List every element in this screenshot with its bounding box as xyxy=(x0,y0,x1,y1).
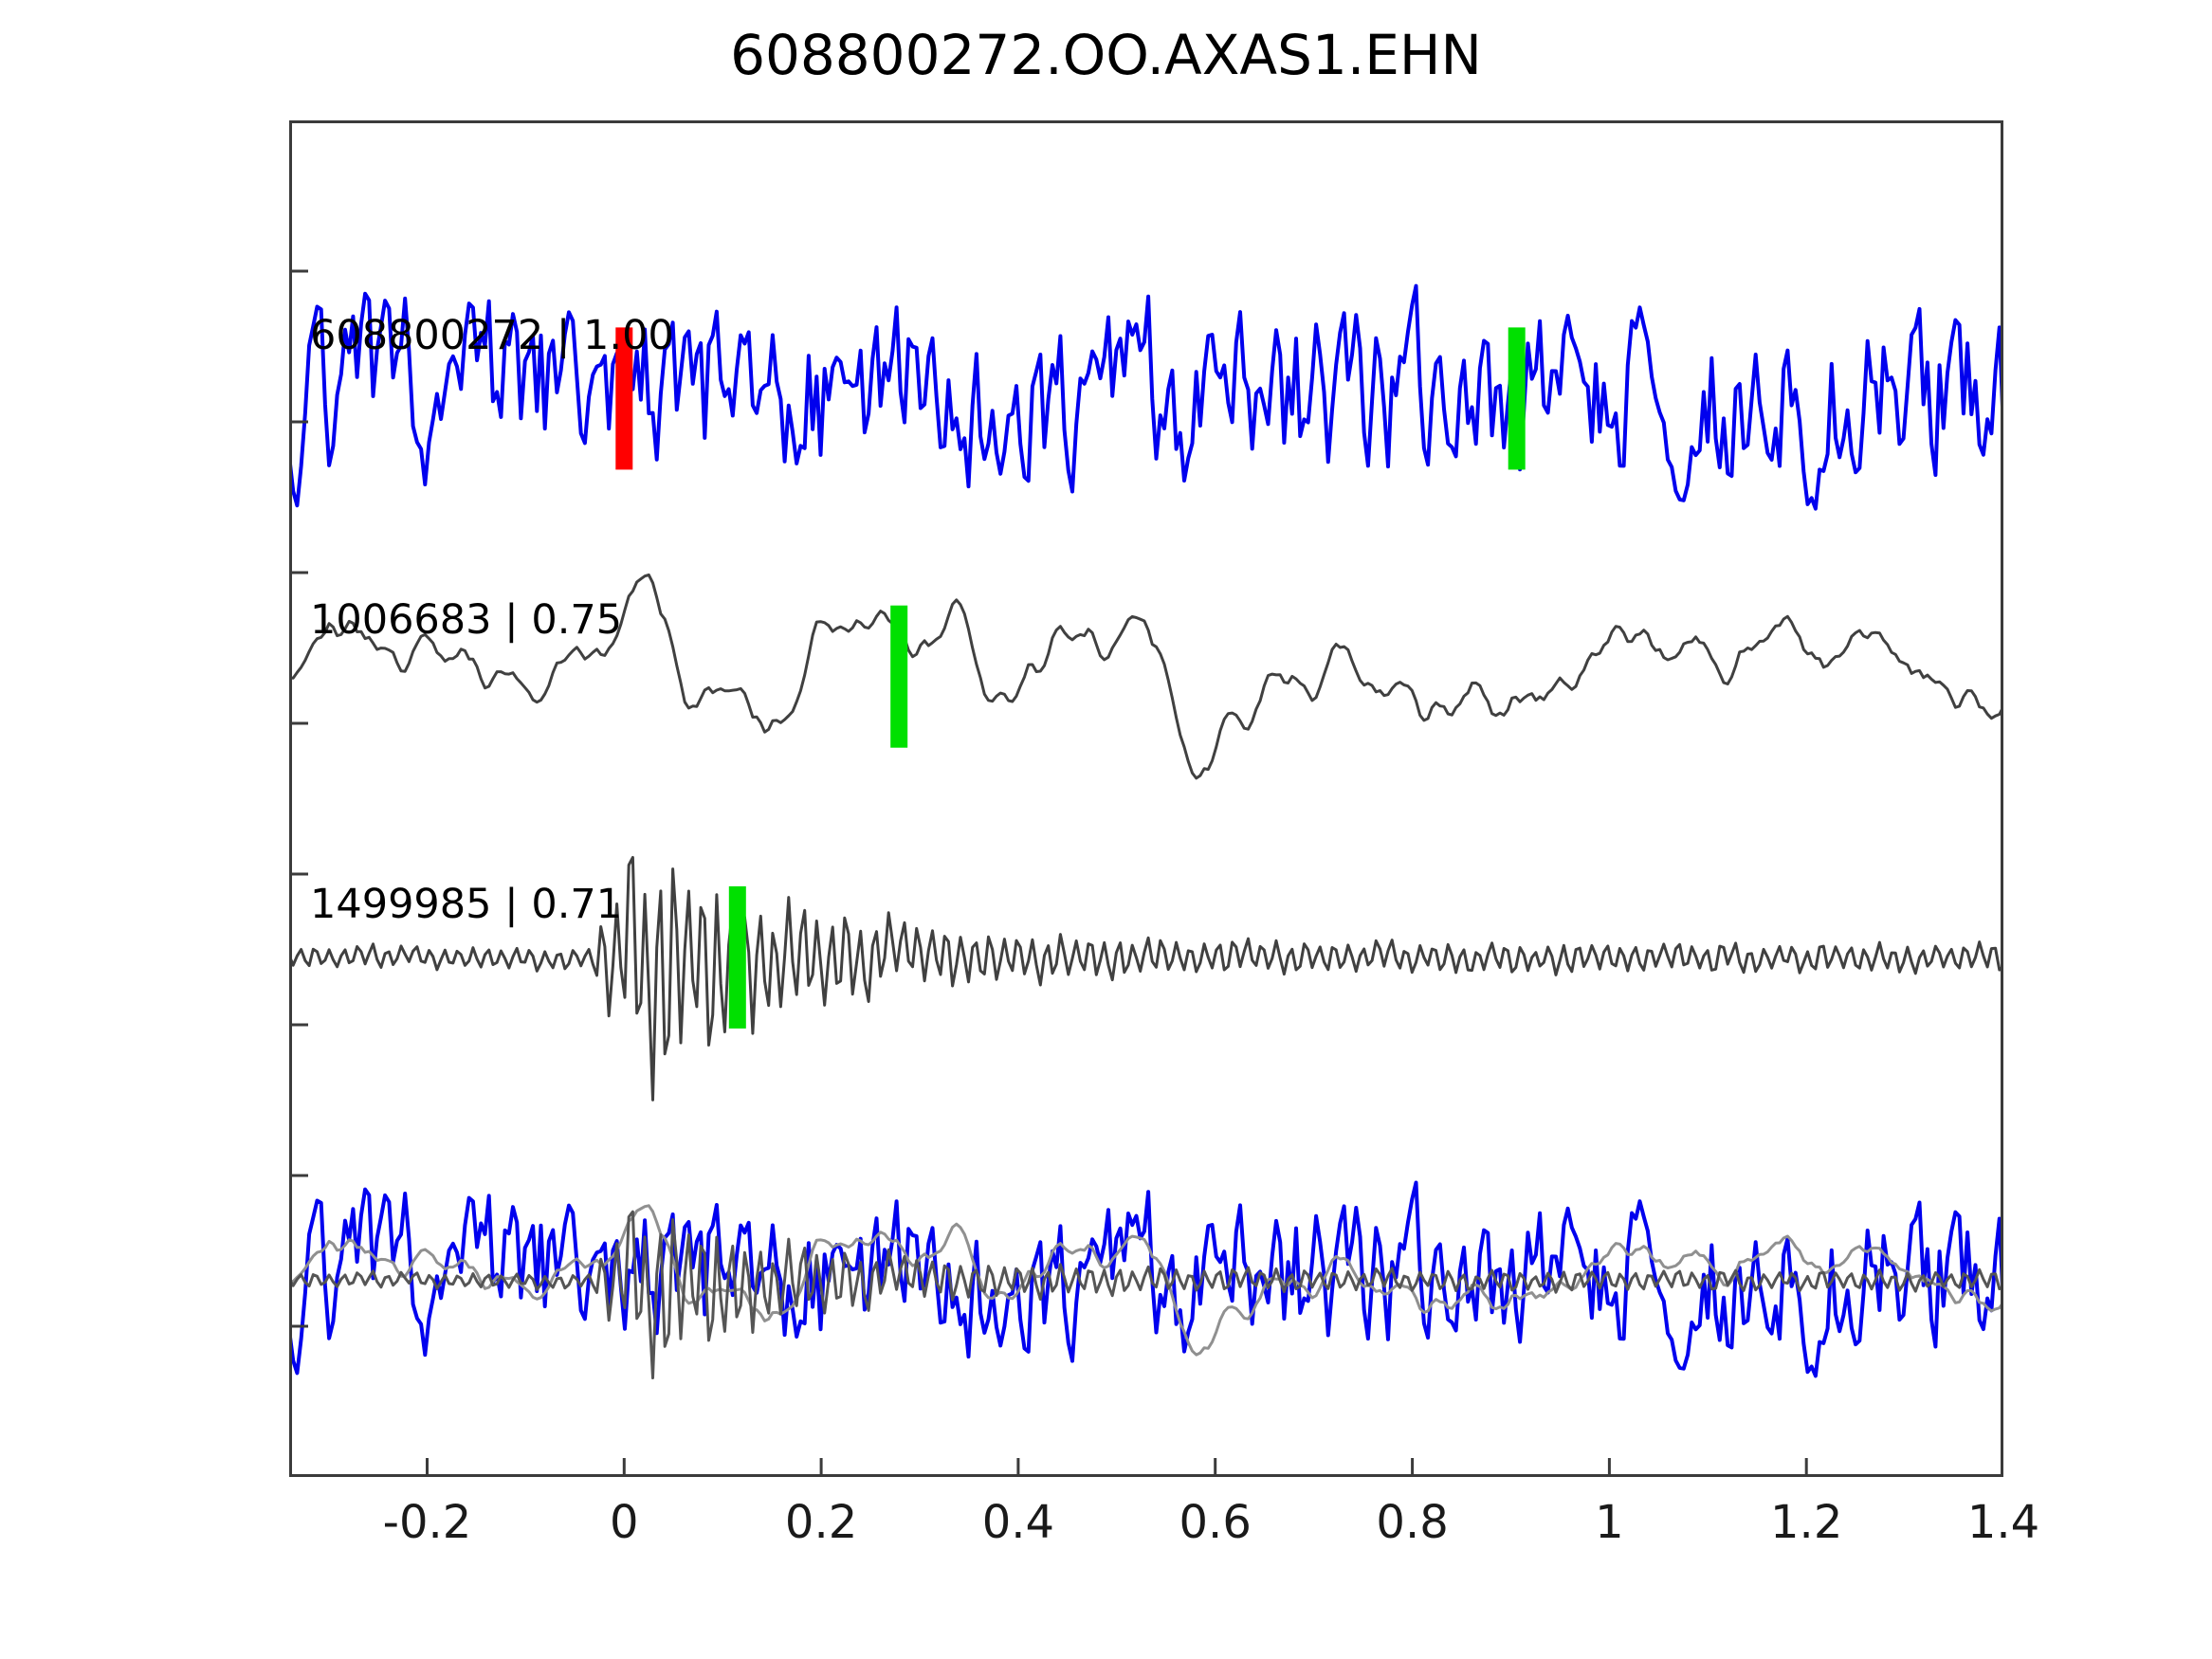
x-tick-label: 1.4 xyxy=(1967,1496,2039,1549)
x-tick-label: 1 xyxy=(1595,1496,1624,1549)
page-title: 608800272.OO.AXAS1.EHN xyxy=(0,23,2212,87)
x-tick-label: 0.2 xyxy=(785,1496,857,1549)
predicted-pick-marker xyxy=(1508,327,1526,469)
predicted-pick-marker xyxy=(729,886,746,1029)
x-tick-label: 0.8 xyxy=(1376,1496,1448,1549)
predicted-pick-marker xyxy=(890,606,907,748)
trace-label-1006683: 1006683 | 0.75 xyxy=(310,600,622,641)
trace-label-1499985: 1499985 | 0.71 xyxy=(310,884,622,925)
x-axis-tick-labels: -0.200.20.40.60.811.21.4 xyxy=(289,1496,2003,1562)
x-tick-label: -0.2 xyxy=(383,1496,472,1549)
plot-axes: 608800272 | 1.00 1006683 | 0.75 1499985 … xyxy=(289,120,2003,1477)
x-tick-marks xyxy=(428,1458,2004,1477)
trace-label-608800272: 608800272 | 1.00 xyxy=(310,316,674,356)
traces-group xyxy=(289,286,2003,1378)
x-tick-label: 1.2 xyxy=(1770,1496,1842,1549)
x-tick-label: 0 xyxy=(610,1496,639,1549)
seismogram-figure: 608800272.OO.AXAS1.EHN 608800272 | 1.00 … xyxy=(0,0,2212,1659)
x-tick-label: 0.6 xyxy=(1179,1496,1252,1549)
x-tick-label: 0.4 xyxy=(982,1496,1054,1549)
